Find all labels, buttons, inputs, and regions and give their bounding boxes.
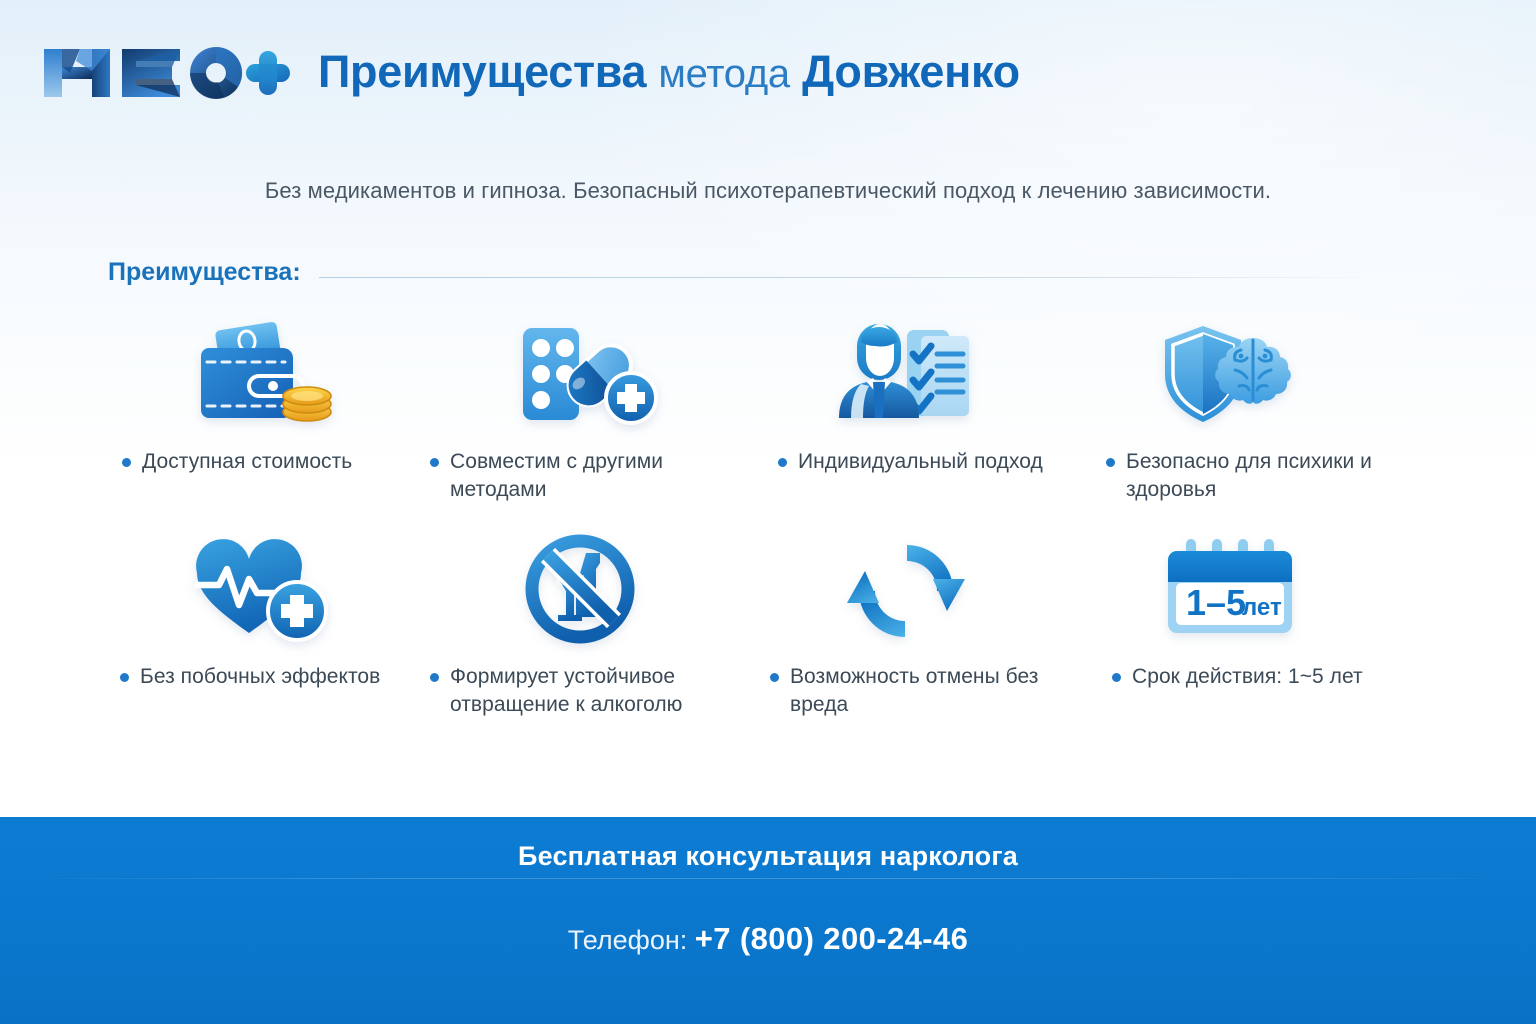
- section-heading: Преимущества:: [108, 258, 1388, 287]
- benefit-text: Доступная стоимость: [142, 448, 352, 476]
- benefits-grid: Доступная стоимость: [104, 312, 1394, 742]
- footer-cta-band: Бесплатная консультация нарколога Телефо…: [0, 817, 1536, 1024]
- calendar-number: 1–5: [1186, 582, 1246, 623]
- header: Преимущества метода Довженко: [0, 0, 1536, 146]
- title-part-3: Довженко: [802, 46, 1020, 97]
- bullet-icon: [430, 673, 439, 682]
- benefit-label-row: Индивидуальный подход: [748, 448, 1070, 476]
- benefit-text: Совместим с другими методами: [450, 448, 742, 503]
- benefit-item: Индивидуальный подход: [748, 312, 1070, 527]
- shield-brain-icon: [1070, 312, 1392, 434]
- benefit-text: Срок действия: 1~5 лет: [1132, 663, 1363, 691]
- benefit-text: Без побочных эффектов: [140, 663, 380, 691]
- calendar-icon: 1–5 лет: [1070, 527, 1392, 649]
- benefit-label-row: Безопасно для психики и здоровья: [1070, 448, 1392, 503]
- phone-label: Телефон:: [568, 925, 688, 955]
- bullet-icon: [1106, 458, 1115, 467]
- benefit-item: Возможность отмены без вреда: [748, 527, 1070, 742]
- benefit-label-row: Возможность отмены без вреда: [748, 663, 1070, 718]
- footer-divider: [0, 878, 1536, 879]
- bullet-icon: [120, 673, 129, 682]
- pills-plus-icon: [426, 312, 748, 434]
- section-divider: [319, 277, 1388, 278]
- footer-phone: Телефон: +7 (800) 200-24-46: [0, 921, 1536, 957]
- page-title: Преимущества метода Довженко: [318, 49, 1020, 98]
- benefit-label-row: Совместим с другими методами: [426, 448, 748, 503]
- benefit-label-row: Без побочных эффектов: [104, 663, 426, 691]
- no-alcohol-icon: [426, 527, 748, 649]
- title-part-1: Преимущества: [318, 46, 646, 97]
- bullet-icon: [770, 673, 779, 682]
- neo-plus-logo: [40, 41, 292, 105]
- calendar-unit: лет: [1242, 594, 1282, 621]
- benefit-text: Безопасно для психики и здоровья: [1126, 448, 1386, 503]
- benefit-text: Формирует устойчивое отвращение к алкого…: [450, 663, 742, 718]
- refresh-arrows-icon: [748, 527, 1070, 649]
- benefit-item: Доступная стоимость: [104, 312, 426, 527]
- bullet-icon: [430, 458, 439, 467]
- benefit-item: Без побочных эффектов: [104, 527, 426, 742]
- benefit-item: Безопасно для психики и здоровья: [1070, 312, 1392, 527]
- benefit-label-row: Срок действия: 1~5 лет: [1070, 663, 1392, 691]
- bullet-icon: [1112, 673, 1121, 682]
- wallet-coins-icon: [104, 312, 426, 434]
- phone-number[interactable]: +7 (800) 200-24-46: [695, 921, 968, 956]
- benefit-text: Индивидуальный подход: [798, 448, 1043, 476]
- benefit-item: Совместим с другими методами: [426, 312, 748, 527]
- bullet-icon: [122, 458, 131, 467]
- subtitle: Без медикаментов и гипноза. Безопасный п…: [0, 178, 1536, 204]
- benefit-item: Формирует устойчивое отвращение к алкого…: [426, 527, 748, 742]
- bullet-icon: [778, 458, 787, 467]
- benefit-text: Возможность отмены без вреда: [790, 663, 1064, 718]
- title-part-2: метода: [658, 52, 789, 96]
- benefit-label-row: Формирует устойчивое отвращение к алкого…: [426, 663, 748, 718]
- footer-title: Бесплатная консультация нарколога: [0, 841, 1536, 872]
- doctor-checklist-icon: [748, 312, 1070, 434]
- benefit-label-row: Доступная стоимость: [104, 448, 426, 476]
- benefit-item: 1–5 лет Срок действия: 1~5 лет: [1070, 527, 1392, 742]
- heart-pulse-plus-icon: [104, 527, 426, 649]
- infographic-page: Преимущества метода Довженко Без медикам…: [0, 0, 1536, 1024]
- section-label: Преимущества:: [108, 258, 301, 287]
